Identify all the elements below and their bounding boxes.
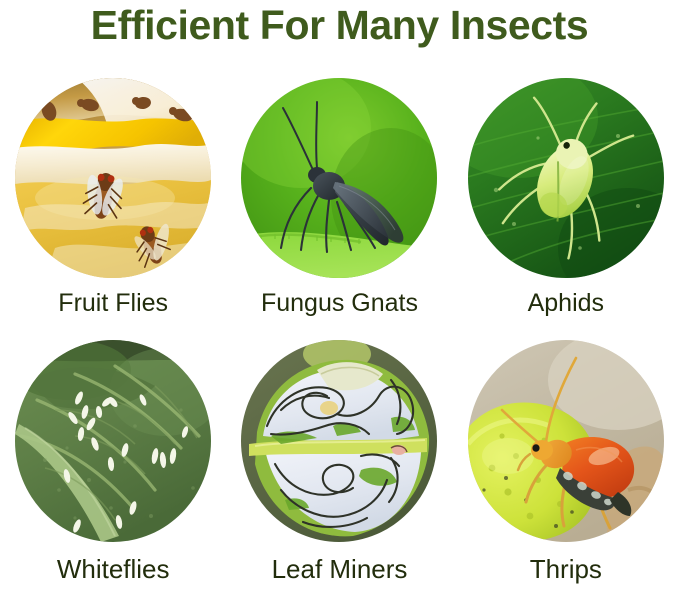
whiteflies-photo: [15, 340, 211, 542]
insect-grid-row-1: Fruit Flies: [0, 78, 679, 318]
insect-label-fungus-gnats: Fungus Gnats: [261, 288, 418, 318]
insect-label-leaf-miners: Leaf Miners: [272, 554, 408, 584]
insect-card-fungus-gnats[interactable]: Fungus Gnats: [226, 78, 452, 318]
insect-label-thrips: Thrips: [530, 554, 602, 584]
page-title: Efficient For Many Insects: [0, 2, 679, 48]
fungus-gnats-photo: [241, 78, 437, 278]
fruit-flies-photo: [15, 78, 211, 278]
insect-grid: Fruit Flies: [0, 78, 679, 584]
aphids-photo: [468, 78, 664, 278]
insect-label-aphids: Aphids: [528, 288, 604, 318]
thrips-photo: [468, 340, 664, 542]
insect-label-fruit-flies: Fruit Flies: [58, 288, 168, 318]
insect-card-aphids[interactable]: Aphids: [453, 78, 679, 318]
insect-card-thrips[interactable]: Thrips: [453, 340, 679, 584]
insect-card-whiteflies[interactable]: Whiteflies: [0, 340, 226, 584]
insect-label-whiteflies: Whiteflies: [57, 554, 170, 584]
insect-grid-row-2: Whiteflies: [0, 340, 679, 584]
insect-card-fruit-flies[interactable]: Fruit Flies: [0, 78, 226, 318]
insect-card-leaf-miners[interactable]: Leaf Miners: [226, 340, 452, 584]
leaf-miners-photo: [241, 340, 437, 542]
